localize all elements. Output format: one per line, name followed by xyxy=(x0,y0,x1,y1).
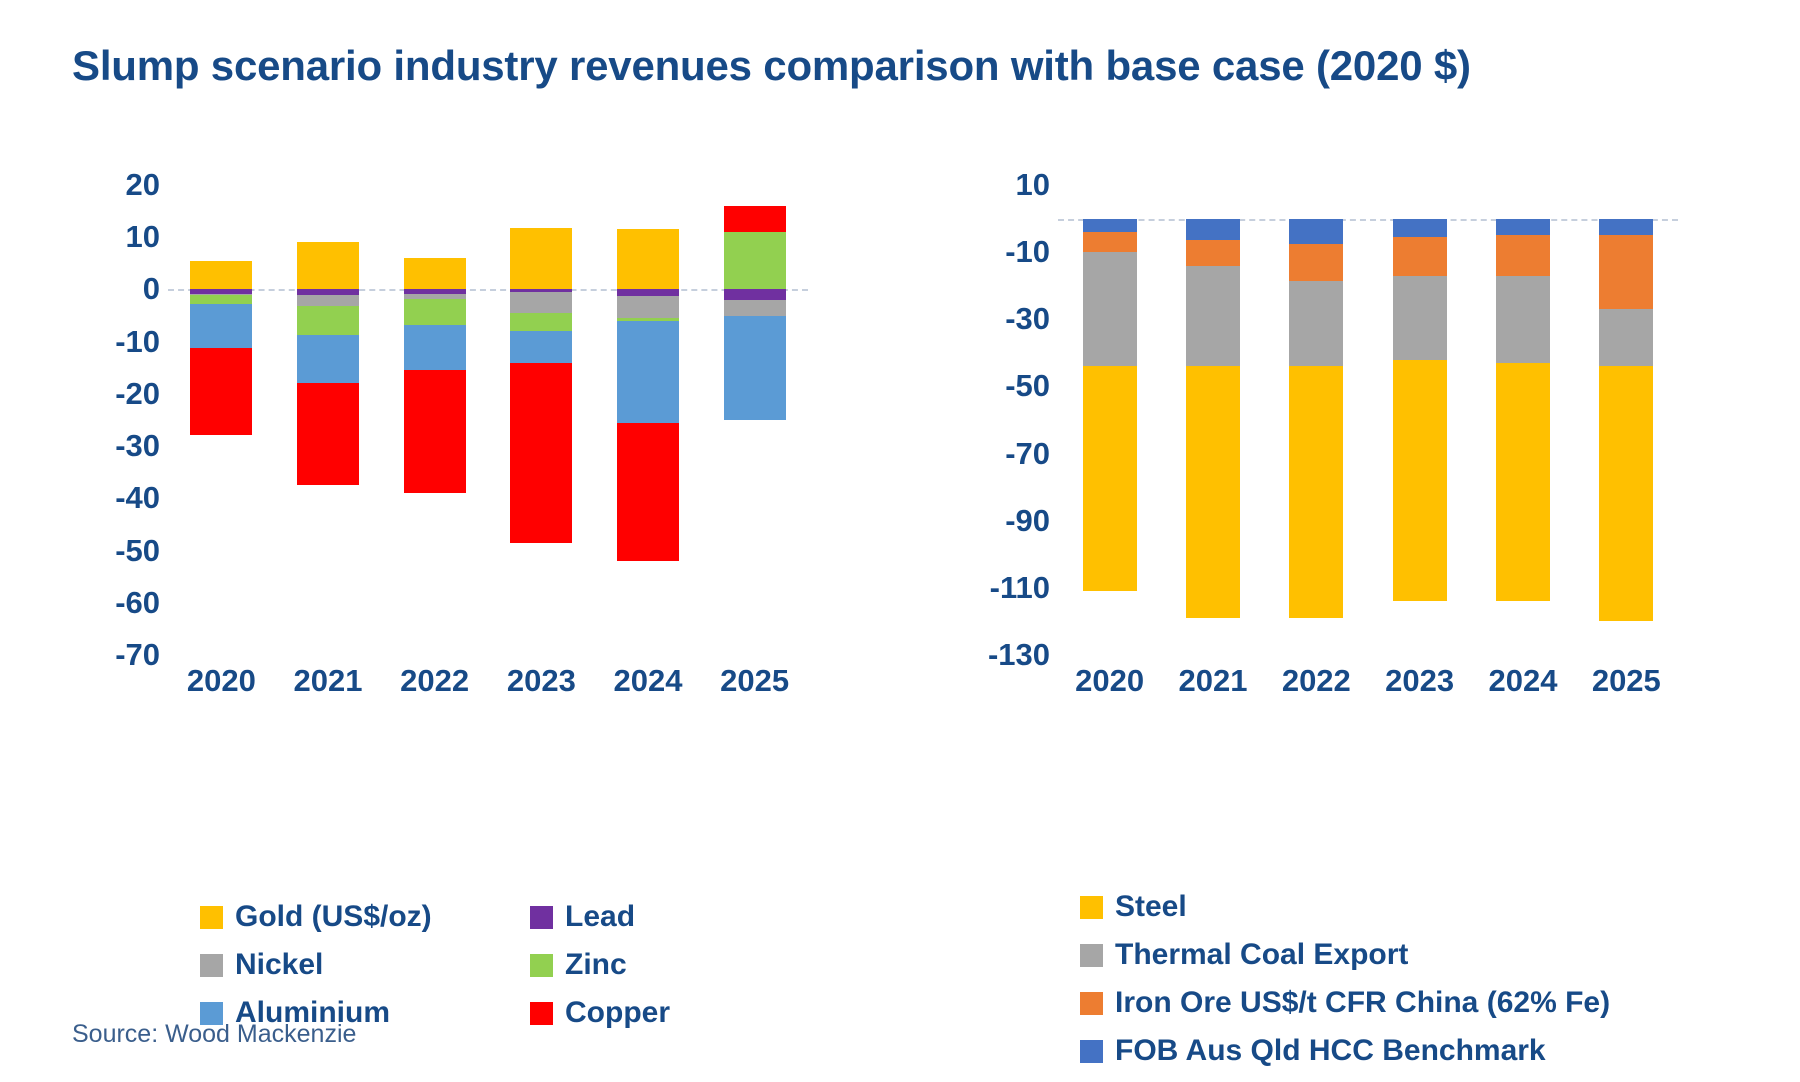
legend-item[interactable]: Nickel xyxy=(200,948,530,982)
legend-label: Thermal Coal Export xyxy=(1115,938,1408,972)
bar-group-2020[interactable] xyxy=(1083,185,1137,655)
bar-group-2022[interactable] xyxy=(1289,185,1343,655)
bar-group-2025[interactable] xyxy=(724,185,786,655)
chart-page: Slump scenario industry revenues compari… xyxy=(0,0,1800,1080)
bar-group-2025[interactable] xyxy=(1599,185,1653,655)
bar-segment-steel xyxy=(1289,366,1343,618)
x-tick-label: 2022 xyxy=(1265,663,1368,699)
bar-segment-iron_ore xyxy=(1083,232,1137,252)
legend-label: Nickel xyxy=(235,948,323,982)
legend-swatch-icon xyxy=(530,954,553,977)
right-y-axis: 10-10-30-50-70-90-110-130 xyxy=(930,185,1050,655)
legend-swatch-icon xyxy=(200,954,223,977)
bar-segment-gold xyxy=(190,261,252,290)
bar-segment-thermal_coal xyxy=(1083,252,1137,366)
bar-segment-copper xyxy=(404,370,466,493)
y-tick-label: -50 xyxy=(940,368,1050,404)
bar-group-2023[interactable] xyxy=(510,185,572,655)
bar-segment-copper xyxy=(724,206,786,232)
bar-segment-hcc xyxy=(1496,219,1550,236)
bar-segment-zinc xyxy=(404,299,466,325)
bar-segment-iron_ore xyxy=(1599,235,1653,309)
left-chart-panel: 20100-10-20-30-40-50-60-70 2020202120222… xyxy=(40,185,860,825)
x-tick-label: 2022 xyxy=(381,663,488,699)
bar-segment-steel xyxy=(1496,363,1550,601)
legend-item[interactable]: Lead xyxy=(530,900,860,934)
legend-label: Copper xyxy=(565,996,670,1030)
bar-segment-steel xyxy=(1083,366,1137,591)
bar-segment-thermal_coal xyxy=(1393,276,1447,360)
legend-swatch-icon xyxy=(200,906,223,929)
bar-segment-hcc xyxy=(1289,219,1343,244)
x-tick-label: 2020 xyxy=(168,663,275,699)
legend-swatch-icon xyxy=(1080,1040,1103,1063)
y-tick-label: 10 xyxy=(940,167,1050,203)
bar-segment-steel xyxy=(1393,360,1447,602)
y-tick-label: 20 xyxy=(50,167,160,203)
bar-segment-lead xyxy=(617,289,679,296)
bar-segment-copper xyxy=(510,363,572,543)
bar-segment-copper xyxy=(617,423,679,561)
x-tick-label: 2025 xyxy=(1575,663,1678,699)
y-tick-label: -130 xyxy=(940,637,1050,673)
bar-group-2023[interactable] xyxy=(1393,185,1447,655)
bar-segment-zinc xyxy=(724,232,786,289)
bar-segment-nickel xyxy=(297,295,359,306)
bar-group-2024[interactable] xyxy=(1496,185,1550,655)
x-tick-label: 2024 xyxy=(595,663,702,699)
bar-segment-aluminium xyxy=(404,325,466,370)
bar-segment-nickel xyxy=(510,292,572,313)
page-title: Slump scenario industry revenues compari… xyxy=(72,40,1672,91)
bar-segment-aluminium xyxy=(617,321,679,423)
bar-segment-gold xyxy=(617,229,679,289)
right-plot-area: 10-10-30-50-70-90-110-130 xyxy=(930,185,1760,655)
bar-segment-thermal_coal xyxy=(1186,266,1240,367)
x-tick-label: 2025 xyxy=(701,663,808,699)
right-legend: SteelThermal Coal ExportIron Ore US$/t C… xyxy=(1080,890,1760,1082)
bar-segment-hcc xyxy=(1083,219,1137,232)
y-tick-label: -10 xyxy=(940,234,1050,270)
bar-segment-iron_ore xyxy=(1289,244,1343,281)
legend-swatch-icon xyxy=(530,906,553,929)
y-tick-label: -90 xyxy=(940,503,1050,539)
bar-group-2021[interactable] xyxy=(297,185,359,655)
bar-segment-zinc xyxy=(190,295,252,304)
bar-segment-iron_ore xyxy=(1186,240,1240,265)
right-x-axis: 202020212022202320242025 xyxy=(1058,663,1678,713)
y-tick-label: -30 xyxy=(50,428,160,464)
y-tick-label: -30 xyxy=(940,301,1050,337)
x-tick-label: 2021 xyxy=(1161,663,1264,699)
legend-label: Gold (US$/oz) xyxy=(235,900,432,934)
legend-swatch-icon xyxy=(1080,992,1103,1015)
bar-segment-hcc xyxy=(1393,219,1447,237)
bar-group-2022[interactable] xyxy=(404,185,466,655)
left-y-axis: 20100-10-20-30-40-50-60-70 xyxy=(40,185,160,655)
bar-group-2024[interactable] xyxy=(617,185,679,655)
legend-item[interactable]: Copper xyxy=(530,996,860,1030)
legend-label: Steel xyxy=(1115,890,1187,924)
bar-segment-copper xyxy=(190,348,252,434)
x-tick-label: 2021 xyxy=(275,663,382,699)
bar-segment-aluminium xyxy=(724,316,786,420)
legend-row: Iron Ore US$/t CFR China (62% Fe) xyxy=(1080,986,1760,1020)
y-tick-label: -110 xyxy=(940,570,1050,606)
y-tick-label: -70 xyxy=(940,436,1050,472)
bar-segment-aluminium xyxy=(190,304,252,348)
legend-label: FOB Aus Qld HCC Benchmark xyxy=(1115,1034,1546,1068)
zero-baseline xyxy=(168,289,808,291)
right-bars-area xyxy=(1058,185,1678,655)
bar-group-2021[interactable] xyxy=(1186,185,1240,655)
bar-segment-iron_ore xyxy=(1393,237,1447,276)
x-tick-label: 2024 xyxy=(1471,663,1574,699)
bar-segment-nickel xyxy=(724,300,786,316)
legend-item[interactable]: Zinc xyxy=(530,948,860,982)
bar-segment-gold xyxy=(510,228,572,290)
source-note: Source: Wood Mackenzie xyxy=(72,1020,356,1049)
legend-swatch-icon xyxy=(1080,896,1103,919)
bar-segment-thermal_coal xyxy=(1289,281,1343,367)
bar-segment-aluminium xyxy=(510,331,572,362)
legend-swatch-icon xyxy=(1080,944,1103,967)
bar-segment-aluminium xyxy=(297,335,359,384)
legend-item[interactable]: Steel xyxy=(1080,890,1187,924)
legend-item[interactable]: FOB Aus Qld HCC Benchmark xyxy=(1080,1034,1546,1068)
left-plot-area: 20100-10-20-30-40-50-60-70 xyxy=(40,185,860,655)
bar-segment-thermal_coal xyxy=(1599,309,1653,366)
legend-row: Gold (US$/oz)Lead xyxy=(200,900,860,934)
y-tick-label: -60 xyxy=(50,585,160,621)
right-chart-panel: 10-10-30-50-70-90-110-130 20202021202220… xyxy=(930,185,1760,825)
x-tick-label: 2020 xyxy=(1058,663,1161,699)
y-tick-label: -10 xyxy=(50,324,160,360)
legend-row: NickelZinc xyxy=(200,948,860,982)
bar-segment-hcc xyxy=(1186,219,1240,241)
bar-segment-hcc xyxy=(1599,219,1653,236)
y-tick-label: -70 xyxy=(50,637,160,673)
bar-segment-thermal_coal xyxy=(1496,276,1550,363)
bar-group-2020[interactable] xyxy=(190,185,252,655)
left-x-axis: 202020212022202320242025 xyxy=(168,663,808,713)
bar-segment-zinc xyxy=(510,313,572,331)
y-tick-label: 10 xyxy=(50,219,160,255)
legend-item[interactable]: Thermal Coal Export xyxy=(1080,938,1408,972)
y-tick-label: -20 xyxy=(50,376,160,412)
legend-row: Steel xyxy=(1080,890,1760,924)
y-tick-label: -50 xyxy=(50,533,160,569)
bar-segment-steel xyxy=(1599,366,1653,621)
legend-label: Iron Ore US$/t CFR China (62% Fe) xyxy=(1115,986,1610,1020)
bar-segment-iron_ore xyxy=(1496,235,1550,275)
bar-segment-lead xyxy=(724,289,786,299)
legend-item[interactable]: Iron Ore US$/t CFR China (62% Fe) xyxy=(1080,986,1610,1020)
bar-segment-copper xyxy=(297,383,359,485)
y-tick-label: 0 xyxy=(50,271,160,307)
legend-row: FOB Aus Qld HCC Benchmark xyxy=(1080,1034,1760,1068)
bar-segment-zinc xyxy=(297,306,359,335)
bar-segment-steel xyxy=(1186,366,1240,618)
bar-segment-gold xyxy=(404,258,466,289)
legend-swatch-icon xyxy=(530,1002,553,1025)
y-tick-label: -40 xyxy=(50,480,160,516)
legend-label: Lead xyxy=(565,900,635,934)
x-tick-label: 2023 xyxy=(488,663,595,699)
zero-baseline xyxy=(1058,219,1678,221)
left-bars-area xyxy=(168,185,808,655)
legend-item[interactable]: Gold (US$/oz) xyxy=(200,900,530,934)
legend-row: Thermal Coal Export xyxy=(1080,938,1760,972)
x-tick-label: 2023 xyxy=(1368,663,1471,699)
legend-label: Zinc xyxy=(565,948,627,982)
bar-segment-nickel xyxy=(617,296,679,318)
bar-segment-gold xyxy=(297,242,359,289)
